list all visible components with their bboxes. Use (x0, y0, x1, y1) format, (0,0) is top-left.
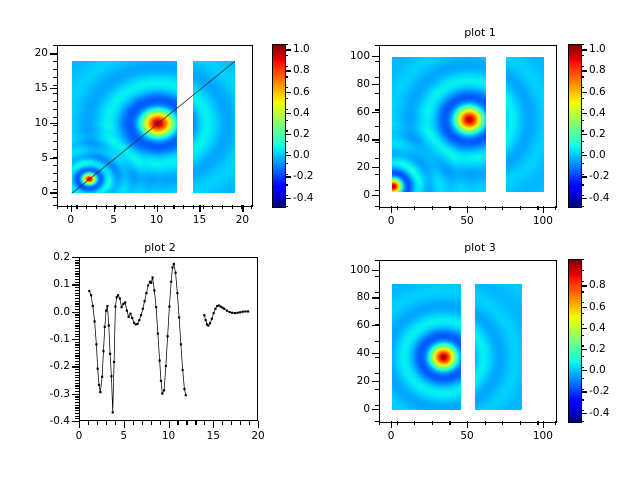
colorbar-minor-tick (581, 66, 584, 67)
heatmap-block (392, 284, 461, 410)
data-point-marker (231, 312, 233, 314)
colorbar-top-left (272, 44, 286, 208)
plot-area-plot-2 (79, 257, 258, 421)
y-major-tick (372, 195, 379, 196)
colorbar-major-tick (285, 198, 291, 199)
y-major-tick (72, 257, 79, 258)
colorbar-major-tick (581, 134, 587, 135)
x-minor-tick (154, 205, 155, 209)
colorbar-minor-tick (285, 44, 288, 45)
data-point-marker (105, 310, 107, 312)
colorbar-minor-tick (285, 130, 288, 131)
data-point-marker (203, 314, 205, 316)
y-minor-tick (75, 413, 79, 414)
data-point-marker (126, 310, 128, 312)
x-minor-tick (251, 205, 252, 209)
colorbar-tick-label: -0.4 (293, 192, 314, 204)
data-point-marker (106, 305, 108, 307)
colorbar-minor-tick (285, 76, 288, 77)
y-minor-tick (75, 372, 79, 373)
x-minor-tick (379, 206, 380, 210)
figure-canvas: 05101520051015201.00.80.60.40.20.0-0.2-0… (0, 0, 640, 480)
data-point-marker (178, 316, 180, 318)
colorbar-minor-tick (581, 174, 584, 175)
y-major-tick (372, 409, 379, 410)
data-point-marker (117, 294, 119, 296)
data-point-marker (92, 305, 94, 307)
colorbar-minor-tick (581, 270, 584, 271)
heatmap-block (506, 57, 544, 192)
y-tick-label: 0.1 (31, 278, 70, 290)
x-tick-label: 10 (162, 430, 175, 442)
colorbar-major-tick (285, 113, 291, 114)
y-tick-label: 40 (333, 347, 370, 359)
y-minor-tick (75, 317, 79, 318)
y-major-tick (72, 394, 79, 395)
x-minor-tick (222, 421, 223, 425)
y-minor-tick (75, 355, 79, 356)
data-point-marker (128, 316, 130, 318)
colorbar-minor-tick (581, 163, 584, 164)
x-minor-tick (57, 205, 58, 209)
data-point-marker (99, 391, 101, 393)
y-minor-tick (75, 358, 79, 359)
x-minor-tick (164, 205, 165, 209)
data-point-marker (160, 380, 162, 382)
x-minor-tick (555, 206, 556, 210)
y-minor-tick (375, 93, 379, 94)
colorbar-tick-label: 0.6 (589, 301, 606, 313)
data-point-marker (112, 411, 114, 413)
y-tick-label: 5 (11, 152, 48, 164)
data-point-marker (138, 319, 140, 321)
colorbar-tick-label: 0.6 (589, 86, 606, 98)
colorbar-minor-tick (581, 98, 584, 99)
data-point-marker (109, 353, 111, 355)
y-minor-tick (53, 141, 57, 142)
colorbar-minor-tick (285, 98, 288, 99)
y-minor-tick (53, 101, 57, 102)
y-minor-tick (53, 61, 57, 62)
data-point-marker (145, 292, 147, 294)
y-minor-tick (53, 149, 57, 150)
y-major-tick (50, 88, 57, 89)
y-major-tick (372, 353, 379, 354)
y-tick-label: 0.2 (31, 251, 70, 263)
colorbar-minor-tick (285, 120, 288, 121)
y-minor-tick (75, 405, 79, 406)
data-point-marker (236, 312, 238, 314)
x-tick-label: 100 (533, 430, 553, 442)
x-minor-tick (86, 205, 87, 209)
colorbar-minor-tick (581, 87, 584, 88)
y-minor-tick (75, 364, 79, 365)
colorbar-major-tick (285, 176, 291, 177)
y-minor-tick (75, 303, 79, 304)
data-point-marker (209, 322, 211, 324)
x-minor-tick (96, 205, 97, 209)
y-minor-tick (75, 287, 79, 288)
y-minor-tick (53, 125, 57, 126)
y-tick-label: 20 (11, 47, 48, 59)
y-major-tick (50, 123, 57, 124)
y-minor-tick (75, 331, 79, 332)
y-minor-tick (375, 260, 379, 261)
x-minor-tick (520, 421, 521, 425)
colorbar-minor-tick (285, 163, 288, 164)
y-major-tick (72, 339, 79, 340)
y-minor-tick (75, 298, 79, 299)
data-point-marker (147, 284, 149, 286)
plot-area-top-left (57, 45, 253, 207)
heatmap-block (475, 284, 522, 410)
x-tick-label: 5 (110, 214, 117, 226)
data-point-marker (234, 312, 236, 314)
y-minor-tick (75, 309, 79, 310)
y-minor-tick (53, 45, 57, 46)
x-minor-tick (115, 205, 116, 209)
y-minor-tick (75, 361, 79, 362)
y-tick-label: 0 (333, 189, 370, 201)
x-minor-tick (449, 421, 450, 425)
y-tick-label: 80 (333, 291, 370, 303)
x-tick-label: 20 (236, 214, 249, 226)
x-minor-tick (414, 421, 415, 425)
y-minor-tick (53, 205, 57, 206)
data-point-marker (110, 375, 112, 377)
y-minor-tick (53, 93, 57, 94)
colorbar-major-tick (285, 92, 291, 93)
y-minor-tick (375, 276, 379, 277)
x-major-tick (467, 206, 468, 213)
colorbar-major-tick (581, 49, 587, 50)
data-point-marker (205, 319, 207, 321)
colorbar-major-tick (581, 176, 587, 177)
x-minor-tick (177, 421, 178, 425)
data-point-marker (171, 266, 173, 268)
x-minor-tick (379, 421, 380, 425)
x-minor-tick (537, 421, 538, 425)
colorbar-minor-tick (581, 130, 584, 131)
y-minor-tick (375, 174, 379, 175)
y-minor-tick (53, 197, 57, 198)
colorbar-minor-tick (581, 184, 584, 185)
x-minor-tick (555, 421, 556, 425)
colorbar-minor-tick (581, 324, 584, 325)
colorbar-major-tick (581, 113, 587, 114)
x-minor-tick (520, 206, 521, 210)
colorbar-minor-tick (581, 76, 584, 77)
data-point-marker (211, 318, 213, 320)
x-minor-tick (222, 205, 223, 209)
colorbar-minor-tick (285, 174, 288, 175)
x-minor-tick (485, 421, 486, 425)
y-minor-tick (75, 418, 79, 419)
colorbar-minor-tick (581, 356, 584, 357)
data-point-marker (214, 308, 216, 310)
x-minor-tick (414, 206, 415, 210)
x-major-tick (124, 421, 125, 428)
data-point-marker (124, 301, 126, 303)
colorbar-major-tick (285, 70, 291, 71)
colorbar-minor-tick (581, 141, 584, 142)
data-point-marker (150, 282, 152, 284)
data-point-marker (144, 300, 146, 302)
colorbar-major-tick (581, 155, 587, 156)
data-point-marker (213, 312, 215, 314)
data-point-marker (90, 294, 92, 296)
heatmap-block (72, 61, 177, 193)
x-minor-tick (183, 205, 184, 209)
colorbar-major-tick (581, 70, 587, 71)
x-minor-tick (537, 206, 538, 210)
y-minor-tick (75, 314, 79, 315)
y-tick-label: 100 (333, 264, 370, 276)
y-minor-tick (75, 306, 79, 307)
colorbar-tick-label: -0.2 (293, 170, 314, 182)
colorbar-minor-tick (581, 291, 584, 292)
y-minor-tick (75, 383, 79, 384)
heatmap-block (392, 57, 486, 192)
colorbar-major-tick (581, 349, 587, 350)
y-minor-tick (53, 173, 57, 174)
y-tick-label: 15 (11, 82, 48, 94)
y-minor-tick (75, 271, 79, 272)
data-point-marker (101, 376, 103, 378)
y-minor-tick (375, 308, 379, 309)
x-major-tick (157, 205, 158, 212)
colorbar-minor-tick (285, 109, 288, 110)
data-point-marker (207, 324, 209, 326)
data-point-marker (228, 311, 230, 313)
colorbar-plot-3 (568, 259, 582, 423)
x-minor-tick (193, 205, 194, 209)
data-point-marker (136, 323, 138, 325)
y-minor-tick (75, 325, 79, 326)
x-minor-tick (106, 205, 107, 209)
x-minor-tick (232, 205, 233, 209)
data-point-marker (247, 310, 249, 312)
colorbar-tick-label: 1.0 (589, 43, 606, 55)
y-minor-tick (53, 117, 57, 118)
data-point-marker (94, 320, 96, 322)
colorbar-tick-label: 0.2 (589, 128, 606, 140)
colorbar-tick-label: -0.2 (589, 170, 610, 182)
data-point-marker (98, 384, 100, 386)
data-point-marker (88, 290, 90, 292)
colorbar-minor-tick (581, 259, 584, 260)
panel-bottom-right: plot 3 0501000204060801000.80.60.40.20.0… (320, 240, 640, 480)
y-major-tick (72, 366, 79, 367)
plot-area-plot-1 (379, 45, 557, 208)
colorbar-minor-tick (285, 195, 288, 196)
data-point-marker (102, 350, 104, 352)
colorbar-minor-tick (581, 389, 584, 390)
colorbar-major-tick (581, 92, 587, 93)
data-point-marker (165, 365, 167, 367)
colorbar-major-tick (285, 49, 291, 50)
x-tick-label: 100 (533, 215, 553, 227)
y-tick-label: -0.2 (31, 360, 70, 372)
y-major-tick (50, 158, 57, 159)
x-minor-tick (186, 421, 187, 425)
y-major-tick (372, 167, 379, 168)
data-point-marker (168, 306, 170, 308)
x-tick-label: 50 (460, 215, 473, 227)
panel-title: plot 3 (320, 241, 640, 254)
y-minor-tick (75, 268, 79, 269)
data-point-marker (185, 394, 187, 396)
colorbar-minor-tick (285, 55, 288, 56)
y-minor-tick (75, 334, 79, 335)
colorbar-minor-tick (581, 421, 584, 422)
y-minor-tick (75, 323, 79, 324)
x-minor-tick (397, 206, 398, 210)
colorbar-minor-tick (581, 195, 584, 196)
colorbar-tick-label: 0.0 (589, 364, 606, 376)
colorbar-tick-label: 0.8 (589, 64, 606, 76)
y-tick-label: 40 (333, 133, 370, 145)
x-minor-tick (142, 421, 143, 425)
colorbar-minor-tick (581, 367, 584, 368)
x-major-tick (199, 205, 200, 212)
data-point-marker (180, 343, 182, 345)
colorbar-tick-label: 0.4 (293, 107, 310, 119)
y-tick-label: -0.4 (31, 415, 70, 427)
y-minor-tick (75, 347, 79, 348)
y-tick-label: 10 (11, 117, 48, 129)
colorbar-tick-label: 0.2 (589, 343, 606, 355)
y-minor-tick (75, 402, 79, 403)
x-minor-tick (88, 421, 89, 425)
heatmap-block (193, 61, 235, 193)
x-minor-tick (240, 421, 241, 425)
y-minor-tick (75, 388, 79, 389)
x-minor-tick (502, 421, 503, 425)
colorbar-major-tick (581, 285, 587, 286)
data-point-marker (140, 314, 142, 316)
colorbar-tick-label: 0.2 (293, 128, 310, 140)
data-point-marker (176, 292, 178, 294)
x-minor-tick (195, 421, 196, 425)
colorbar-major-tick (581, 307, 587, 308)
colorbar-minor-tick (581, 345, 584, 346)
data-point-marker (113, 361, 115, 363)
x-tick-label: 50 (460, 430, 473, 442)
y-minor-tick (53, 69, 57, 70)
x-minor-tick (151, 421, 152, 425)
colorbar-minor-tick (285, 184, 288, 185)
x-major-tick (71, 205, 72, 212)
y-minor-tick (375, 158, 379, 159)
data-point-marker (173, 263, 175, 265)
data-point-marker (95, 343, 97, 345)
y-minor-tick (53, 181, 57, 182)
x-tick-label: 15 (207, 430, 220, 442)
x-major-tick (391, 206, 392, 213)
y-tick-label: 20 (333, 375, 370, 387)
y-tick-label: 20 (333, 161, 370, 173)
y-minor-tick (75, 375, 79, 376)
colorbar-major-tick (285, 134, 291, 135)
x-minor-tick (502, 206, 503, 210)
y-minor-tick (375, 292, 379, 293)
x-minor-tick (144, 205, 145, 209)
x-tick-label: 0 (388, 215, 395, 227)
x-minor-tick (125, 205, 126, 209)
y-minor-tick (375, 389, 379, 390)
panel-top-right: plot 1 0501000204060801001.00.80.60.40.2… (320, 0, 640, 240)
y-major-tick (372, 112, 379, 113)
data-point-marker (151, 276, 153, 278)
y-minor-tick (375, 45, 379, 46)
data-point-marker (121, 306, 123, 308)
data-point-marker (108, 324, 110, 326)
x-minor-tick (432, 421, 433, 425)
x-minor-tick (67, 205, 68, 209)
x-minor-tick (249, 421, 250, 425)
data-point-marker (174, 272, 176, 274)
line-series-svg (80, 258, 257, 420)
y-minor-tick (75, 410, 79, 411)
y-minor-tick (75, 328, 79, 329)
colorbar-tick-label: 0.8 (293, 64, 310, 76)
y-tick-label: 60 (333, 319, 370, 331)
data-point-marker (182, 369, 184, 371)
y-minor-tick (75, 396, 79, 397)
panel-bottom-left: plot 2 051015200.20.10.0-0.1-0.2-0.3-0.4 (0, 240, 320, 480)
data-point-marker (244, 310, 246, 312)
colorbar-tick-label: 0.4 (589, 107, 606, 119)
y-major-tick (372, 84, 379, 85)
data-point-marker (155, 306, 157, 308)
y-minor-tick (75, 290, 79, 291)
x-minor-tick (133, 421, 134, 425)
x-major-tick (543, 421, 544, 428)
colorbar-tick-label: 0.0 (589, 149, 606, 161)
y-minor-tick (375, 77, 379, 78)
y-minor-tick (75, 282, 79, 283)
x-minor-tick (231, 421, 232, 425)
data-point-marker (116, 296, 118, 298)
x-tick-label: 0 (388, 430, 395, 442)
x-minor-tick (212, 205, 213, 209)
x-tick-label: 10 (150, 214, 163, 226)
colorbar-tick-label: 0.4 (589, 322, 606, 334)
y-minor-tick (75, 265, 79, 266)
colorbar-minor-tick (285, 141, 288, 142)
x-minor-tick (115, 421, 116, 425)
colorbar-tick-label: 0.6 (293, 86, 310, 98)
y-minor-tick (375, 341, 379, 342)
colorbar-major-tick (581, 370, 587, 371)
colorbar-minor-tick (285, 206, 288, 207)
y-minor-tick (75, 407, 79, 408)
y-minor-tick (375, 61, 379, 62)
colorbar-minor-tick (581, 55, 584, 56)
colorbar-minor-tick (581, 44, 584, 45)
y-tick-label: 0 (333, 403, 370, 415)
y-major-tick (50, 192, 57, 193)
x-minor-tick (160, 421, 161, 425)
data-point-marker (242, 311, 244, 313)
y-minor-tick (375, 190, 379, 191)
x-minor-tick (173, 205, 174, 209)
x-tick-label: 20 (251, 430, 264, 442)
y-minor-tick (75, 399, 79, 400)
y-minor-tick (53, 165, 57, 166)
data-point-marker (167, 335, 169, 337)
